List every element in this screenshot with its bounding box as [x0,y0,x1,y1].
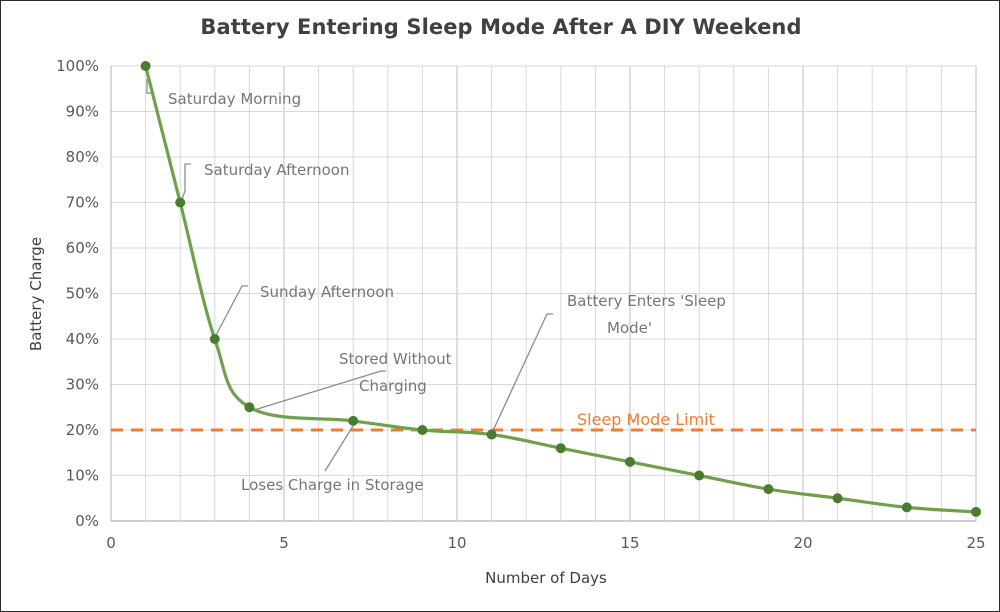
data-point-marker [175,198,185,208]
annotation-label: Stored Without [339,350,452,368]
sleep-mode-limit-label: Sleep Mode Limit [577,410,715,429]
data-point-marker [556,443,566,453]
annotation-label: Saturday Afternoon [204,161,350,179]
y-tick-label: 90% [66,103,99,121]
y-tick-label: 10% [66,467,99,485]
annotation-label: Sunday Afternoon [260,283,394,301]
y-tick-label: 0% [75,512,99,530]
data-point-marker [141,61,151,71]
annotation-label: Charging [359,377,427,395]
chart-page: Battery Entering Sleep Mode After A DIY … [0,0,1000,612]
x-tick-label: 5 [279,534,289,552]
y-tick-label: 30% [66,376,99,394]
x-tick-label: 10 [447,534,466,552]
y-tick-label: 40% [66,330,99,348]
y-tick-label: 80% [66,148,99,166]
data-point-marker [694,471,704,481]
y-tick-label: 60% [66,239,99,257]
data-point-marker [625,457,635,467]
y-tick-label: 50% [66,285,99,303]
data-point-marker [971,507,981,517]
annotation-label: Battery Enters 'Sleep [567,292,726,310]
y-axis-title: Battery Charge [27,237,45,351]
x-axis-tick-labels: 0510152025 [106,534,985,552]
x-tick-label: 25 [966,534,985,552]
annotation-label: Mode' [607,319,652,337]
data-point-marker [763,484,773,494]
data-point-marker [833,493,843,503]
y-tick-label: 20% [66,421,99,439]
annotation-leader-line [491,314,553,435]
y-axis-tick-labels: 0%10%20%30%40%50%60%70%80%90%100% [56,57,99,530]
data-point-marker [348,416,358,426]
data-point-marker [902,502,912,512]
data-point-marker [244,402,254,412]
annotation-label: Loses Charge in Storage [241,476,424,494]
annotation-leader-line [325,426,353,471]
chart-gridlines [111,66,976,521]
x-tick-label: 0 [106,534,116,552]
chart-annotations: Saturday MorningSaturday AfternoonSunday… [168,90,726,494]
y-tick-label: 100% [56,57,99,75]
data-point-marker [417,425,427,435]
line-chart: 0%10%20%30%40%50%60%70%80%90%100% 051015… [1,1,1000,612]
y-tick-label: 70% [66,194,99,212]
data-point-marker [210,334,220,344]
x-axis-title: Number of Days [485,569,607,587]
annotation-label: Saturday Morning [168,90,301,108]
x-tick-label: 15 [620,534,639,552]
data-point-marker [487,430,497,440]
x-tick-label: 20 [793,534,812,552]
